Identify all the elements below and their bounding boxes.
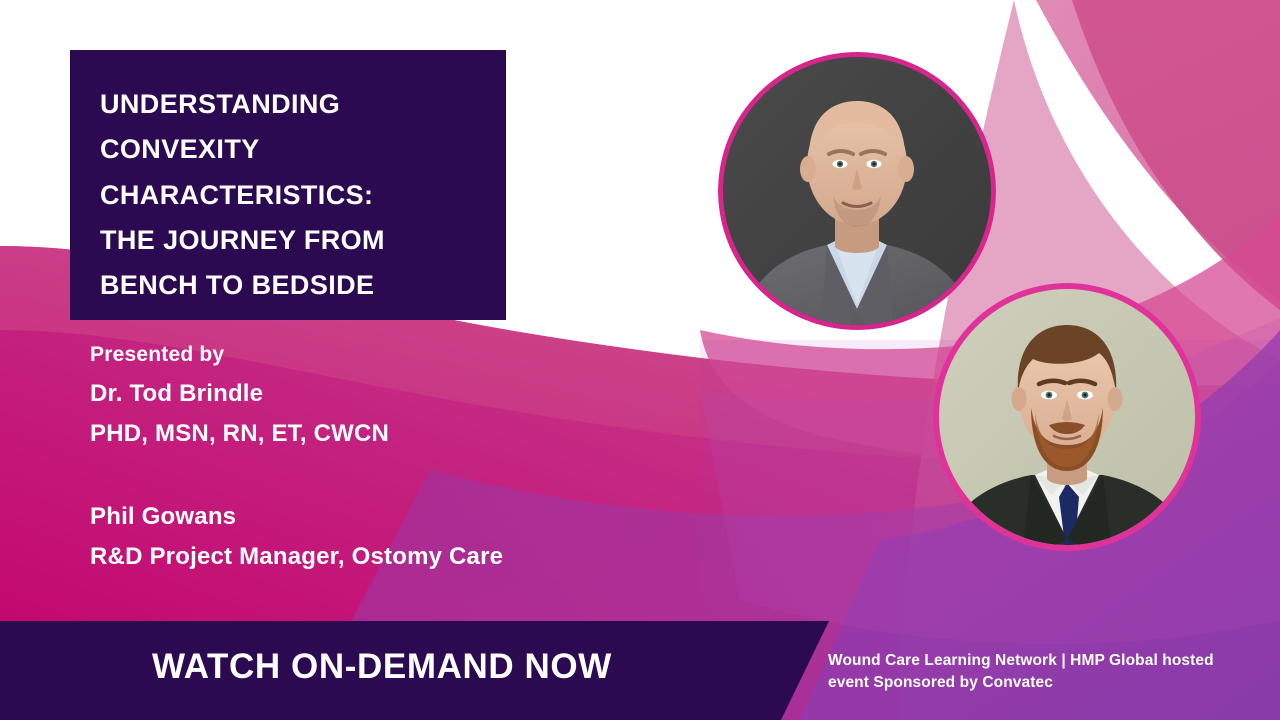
- presenters-spacer: [90, 454, 710, 498]
- cta-banner[interactable]: WATCH ON-DEMAND NOW: [0, 621, 860, 720]
- avatar-phil-gowans: [933, 283, 1201, 551]
- avatar-photo-1: [723, 57, 991, 325]
- watch-on-demand-button[interactable]: WATCH ON-DEMAND NOW: [152, 647, 612, 687]
- speaker-name-1: Dr. Tod Brindle: [90, 375, 710, 414]
- presenters-block: Presented by Dr. Tod Brindle PHD, MSN, R…: [90, 336, 710, 577]
- speaker-credentials-2: R&D Project Manager, Ostomy Care: [90, 537, 710, 577]
- title-box: UNDERSTANDING CONVEXITY CHARACTERISTICS:…: [70, 50, 506, 320]
- avatar-tod-brindle: [718, 52, 996, 330]
- avatar-photo-2: [939, 289, 1195, 545]
- page-title: UNDERSTANDING CONVEXITY CHARACTERISTICS:…: [100, 82, 476, 309]
- speaker-name-2: Phil Gowans: [90, 498, 710, 537]
- webinar-promo-slide: UNDERSTANDING CONVEXITY CHARACTERISTICS:…: [0, 0, 1280, 720]
- sponsor-attribution: Wound Care Learning Network | HMP Global…: [828, 650, 1248, 695]
- presented-by-label: Presented by: [90, 336, 710, 375]
- speaker-credentials-1: PHD, MSN, RN, ET, CWCN: [90, 414, 710, 454]
